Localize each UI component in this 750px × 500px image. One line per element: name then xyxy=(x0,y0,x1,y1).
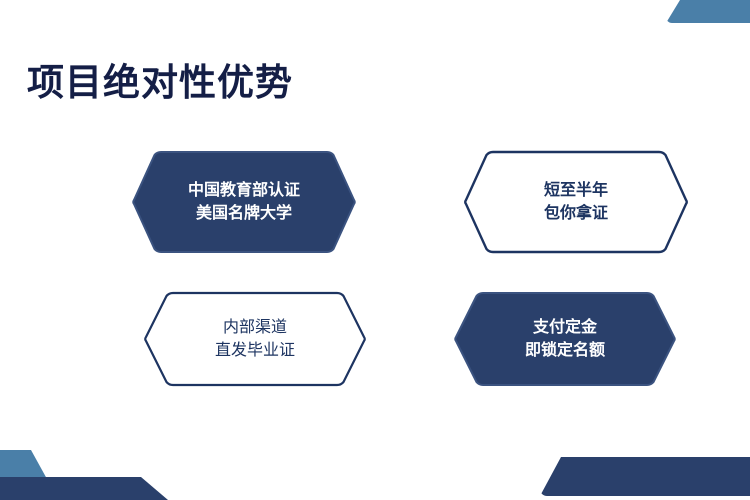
slide-canvas: 项目绝对性优势 中国教育部认证 美国名牌大学 短至半年 包你拿证 内部渠道 直发… xyxy=(0,0,750,500)
hexagon-label-bottom-right: 支付定金 即锁定名额 xyxy=(525,316,605,362)
hexagon-label-top-left: 中国教育部认证 美国名牌大学 xyxy=(188,179,300,225)
hexagon-label-line2: 即锁定名额 xyxy=(525,339,605,362)
hexagon-label-line2: 美国名牌大学 xyxy=(188,202,300,225)
hexagon-label-line1: 短至半年 xyxy=(544,179,608,202)
page-title: 项目绝对性优势 xyxy=(27,60,293,106)
hexagon-label-line2: 包你拿证 xyxy=(544,202,608,225)
hexagon-card-top-left[interactable]: 中国教育部认证 美国名牌大学 xyxy=(131,150,357,254)
hexagon-label-line1: 中国教育部认证 xyxy=(188,179,300,202)
decoration-top-right-bar xyxy=(666,0,750,23)
decoration-bottom-left-small xyxy=(0,450,47,479)
hexagon-label-line1: 内部渠道 xyxy=(215,316,295,339)
hexagon-card-bottom-left[interactable]: 内部渠道 直发毕业证 xyxy=(143,291,367,387)
hexagon-card-bottom-right[interactable]: 支付定金 即锁定名额 xyxy=(453,291,677,387)
hexagon-label-line1: 支付定金 xyxy=(525,316,605,339)
hexagon-label-bottom-left: 内部渠道 直发毕业证 xyxy=(215,316,295,362)
decoration-bottom-left-band xyxy=(0,477,168,500)
decoration-bottom-right-band xyxy=(540,457,750,496)
hexagon-label-top-right: 短至半年 包你拿证 xyxy=(544,179,608,225)
hexagon-card-top-right[interactable]: 短至半年 包你拿证 xyxy=(463,150,689,254)
hexagon-label-line2: 直发毕业证 xyxy=(215,339,295,362)
